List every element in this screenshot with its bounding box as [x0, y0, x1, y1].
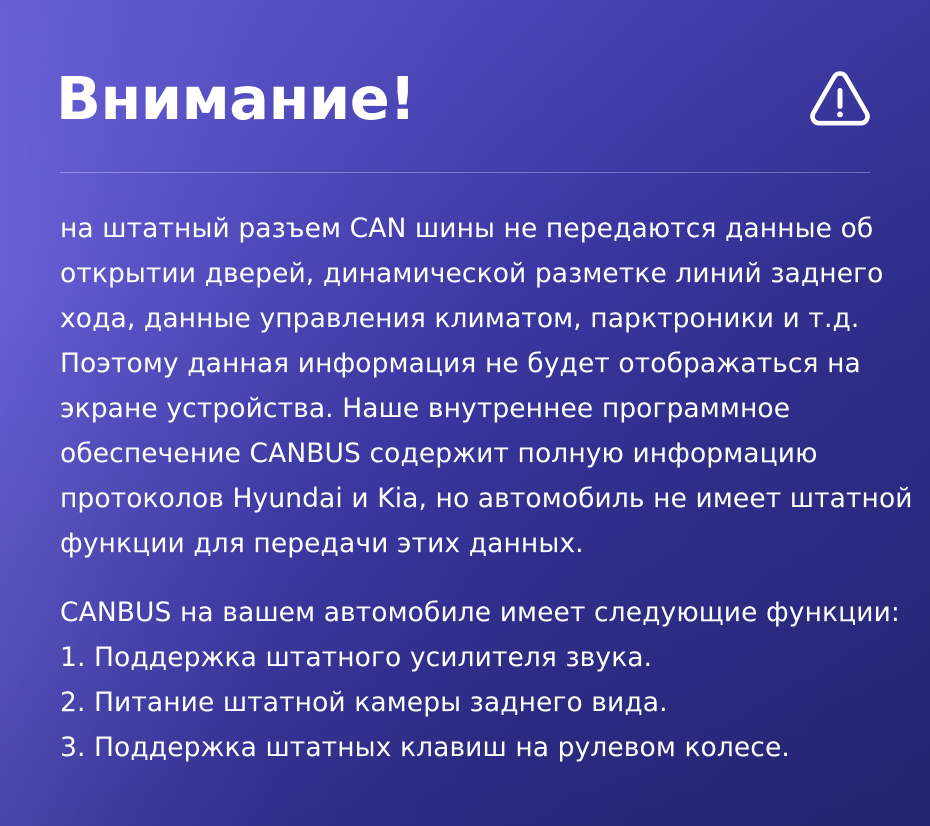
- description-paragraph: на штатный разъем CAN шины не передаются…: [60, 206, 888, 566]
- warning-banner: Внимание! на штатный разъем CAN шины не …: [0, 0, 930, 826]
- description-line: открытии дверей, динамической разметке л…: [60, 251, 888, 296]
- description-line: обеспечение CANBUS содержит полную инфор…: [60, 431, 888, 476]
- features-intro: CANBUS на вашем автомобиле имеет следующ…: [60, 590, 888, 635]
- warning-triangle-icon: [806, 64, 874, 132]
- description-line: экране устройства. Наше внутреннее прогр…: [60, 386, 888, 431]
- description-line: хода, данные управления климатом, парктр…: [60, 296, 888, 341]
- description-line: на штатный разъем CAN шины не передаются…: [60, 206, 888, 251]
- page-title: Внимание!: [56, 69, 416, 128]
- features-block: CANBUS на вашем автомобиле имеет следующ…: [60, 590, 888, 770]
- description-line: протоколов Hyundai и Kia, но автомобиль …: [60, 476, 888, 521]
- list-item: 1. Поддержка штатного усилителя звука.: [60, 635, 888, 680]
- list-item: 2. Питание штатной камеры заднего вида.: [60, 680, 888, 725]
- features-list: 1. Поддержка штатного усилителя звука. 2…: [60, 635, 888, 770]
- description-line: Поэтому данная информация не будет отобр…: [60, 341, 888, 386]
- description-line: функции для передачи этих данных.: [60, 521, 888, 566]
- banner-content: Внимание! на штатный разъем CAN шины не …: [0, 0, 930, 826]
- banner-header: Внимание!: [0, 52, 930, 144]
- list-item: 3. Поддержка штатных клавиш на рулевом к…: [60, 725, 888, 770]
- description-block: на штатный разъем CAN шины не передаются…: [60, 206, 888, 566]
- header-divider: [60, 172, 870, 173]
